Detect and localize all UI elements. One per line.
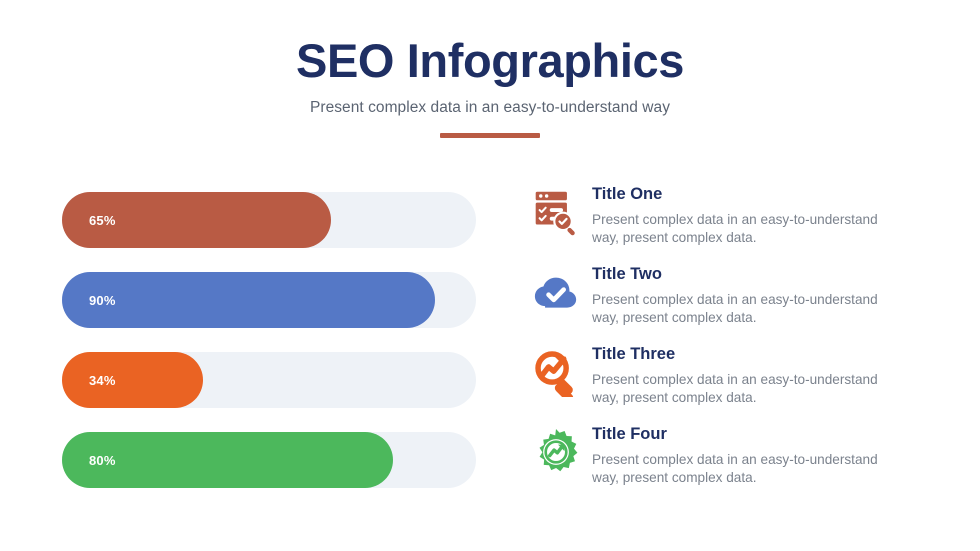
legend-item-two: Title Two Present complex data in an eas… xyxy=(520,263,940,343)
bar-value-one: 65% xyxy=(89,213,116,228)
legend-item-three-title: Title Three xyxy=(592,345,940,365)
legend-item-four-text: Title Four Present complex data in an ea… xyxy=(592,423,940,487)
gear-growth-arrow-icon xyxy=(520,423,592,477)
bar-value-three: 34% xyxy=(89,373,116,388)
search-growth-arrow-icon xyxy=(520,343,592,397)
legend-item-one-description: Present complex data in an easy-to-under… xyxy=(592,211,882,247)
legend-item-two-title: Title Two xyxy=(592,265,940,285)
slide-canvas: SEO Infographics Present complex data in… xyxy=(0,0,980,551)
legend-item-three-text: Title Three Present complex data in an e… xyxy=(592,343,940,407)
bar-fill-one: 65% xyxy=(62,192,331,248)
bar-value-two: 90% xyxy=(89,293,116,308)
page-title: SEO Infographics xyxy=(0,36,980,87)
legend-item-two-description: Present complex data in an easy-to-under… xyxy=(592,291,882,327)
page-subtitle: Present complex data in an easy-to-under… xyxy=(0,99,980,117)
seo-checklist-search-icon xyxy=(520,183,592,237)
bar-fill-four: 80% xyxy=(62,432,393,488)
legend-item-four: Title Four Present complex data in an ea… xyxy=(520,423,940,503)
legend-item-three-description: Present complex data in an easy-to-under… xyxy=(592,371,882,407)
legend-item-one-text: Title One Present complex data in an eas… xyxy=(592,183,940,247)
bar-row-two: 90% xyxy=(62,272,476,328)
bar-row-one: 65% xyxy=(62,192,476,248)
legend-item-four-description: Present complex data in an easy-to-under… xyxy=(592,451,882,487)
legend-item-three: Title Three Present complex data in an e… xyxy=(520,343,940,423)
legend-item-two-text: Title Two Present complex data in an eas… xyxy=(592,263,940,327)
legend-items: Title One Present complex data in an eas… xyxy=(520,183,940,503)
bar-row-three: 34% xyxy=(62,352,476,408)
legend-item-one: Title One Present complex data in an eas… xyxy=(520,183,940,263)
cloud-check-icon xyxy=(520,263,592,317)
slide-header: SEO Infographics Present complex data in… xyxy=(0,36,980,138)
progress-bar-chart: 65% 90% 34% 80% xyxy=(62,192,476,488)
legend-item-one-title: Title One xyxy=(592,185,940,205)
title-accent-rule xyxy=(440,133,540,138)
bar-fill-two: 90% xyxy=(62,272,435,328)
bar-value-four: 80% xyxy=(89,453,116,468)
bar-fill-three: 34% xyxy=(62,352,203,408)
legend-item-four-title: Title Four xyxy=(592,425,940,445)
bar-row-four: 80% xyxy=(62,432,476,488)
